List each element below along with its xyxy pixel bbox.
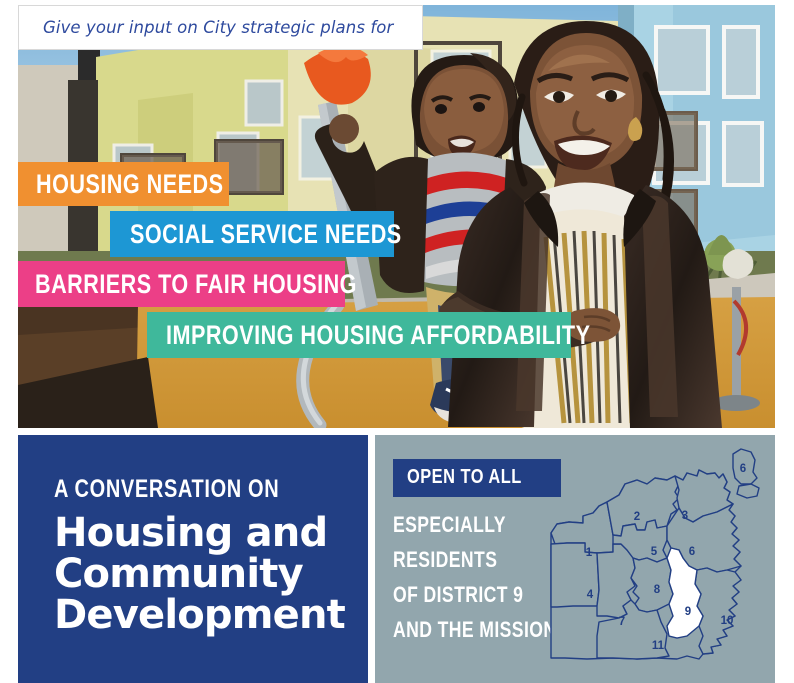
audience-line-1: ESPECIALLY [393, 512, 545, 538]
audience-line-2: RESIDENTS [393, 547, 545, 573]
district-label-8: 8 [654, 584, 661, 596]
event-eyebrow: A CONVERSATION ON [54, 475, 305, 504]
event-title-line-2: Community [54, 554, 368, 595]
district-label-5: 5 [651, 546, 658, 558]
badge-label: OPEN TO ALL [407, 466, 522, 489]
topic-bar-housing-needs: HOUSING NEEDS [18, 162, 229, 206]
kicker-banner: Give your input on City strategic plans … [18, 5, 423, 50]
event-title-line-1: Housing and [54, 513, 368, 554]
topic-label: IMPROVING HOUSING AFFORDABILITY [166, 320, 590, 351]
topic-bar-social-service-needs: SOCIAL SERVICE NEEDS [110, 211, 394, 257]
topic-bar-barriers-to-fair-housing: BARRIERS TO FAIR HOUSING [18, 261, 345, 307]
district-label-7: 7 [619, 616, 625, 628]
district-label-11: 11 [652, 640, 665, 652]
topic-bar-improving-housing-affordability: IMPROVING HOUSING AFFORDABILITY [147, 312, 571, 358]
sf-district-map-svg: 1 2 3 4 5 6 7 8 9 10 11 6 [527, 440, 767, 678]
event-title-line-3: Development [54, 595, 368, 636]
audience-line-3: OF DISTRICT 9 [393, 582, 545, 608]
kicker-text: Give your input on City strategic plans … [43, 18, 393, 37]
audience-line-4: AND THE MISSION [393, 617, 545, 643]
topic-label: HOUSING NEEDS [36, 169, 223, 200]
district-label-4: 4 [587, 589, 594, 601]
topic-label: BARRIERS TO FAIR HOUSING [35, 269, 357, 300]
audience-panel: OPEN TO ALL ESPECIALLY RESIDENTS OF DIST… [375, 435, 775, 683]
district-label-1: 1 [586, 547, 593, 559]
district-label-6: 6 [689, 546, 695, 558]
district-label-10: 10 [721, 615, 734, 627]
district-label-9: 9 [685, 606, 691, 618]
district-label-2: 2 [634, 511, 640, 523]
topic-label: SOCIAL SERVICE NEEDS [130, 219, 402, 250]
district-label-6-treasure-island: 6 [740, 463, 746, 475]
district-label-3: 3 [682, 510, 688, 522]
event-panel: A CONVERSATION ON Housing and Community … [18, 435, 368, 683]
sf-district-map: 1 2 3 4 5 6 7 8 9 10 11 6 [527, 440, 767, 678]
event-title: Housing and Community Development [54, 513, 368, 637]
